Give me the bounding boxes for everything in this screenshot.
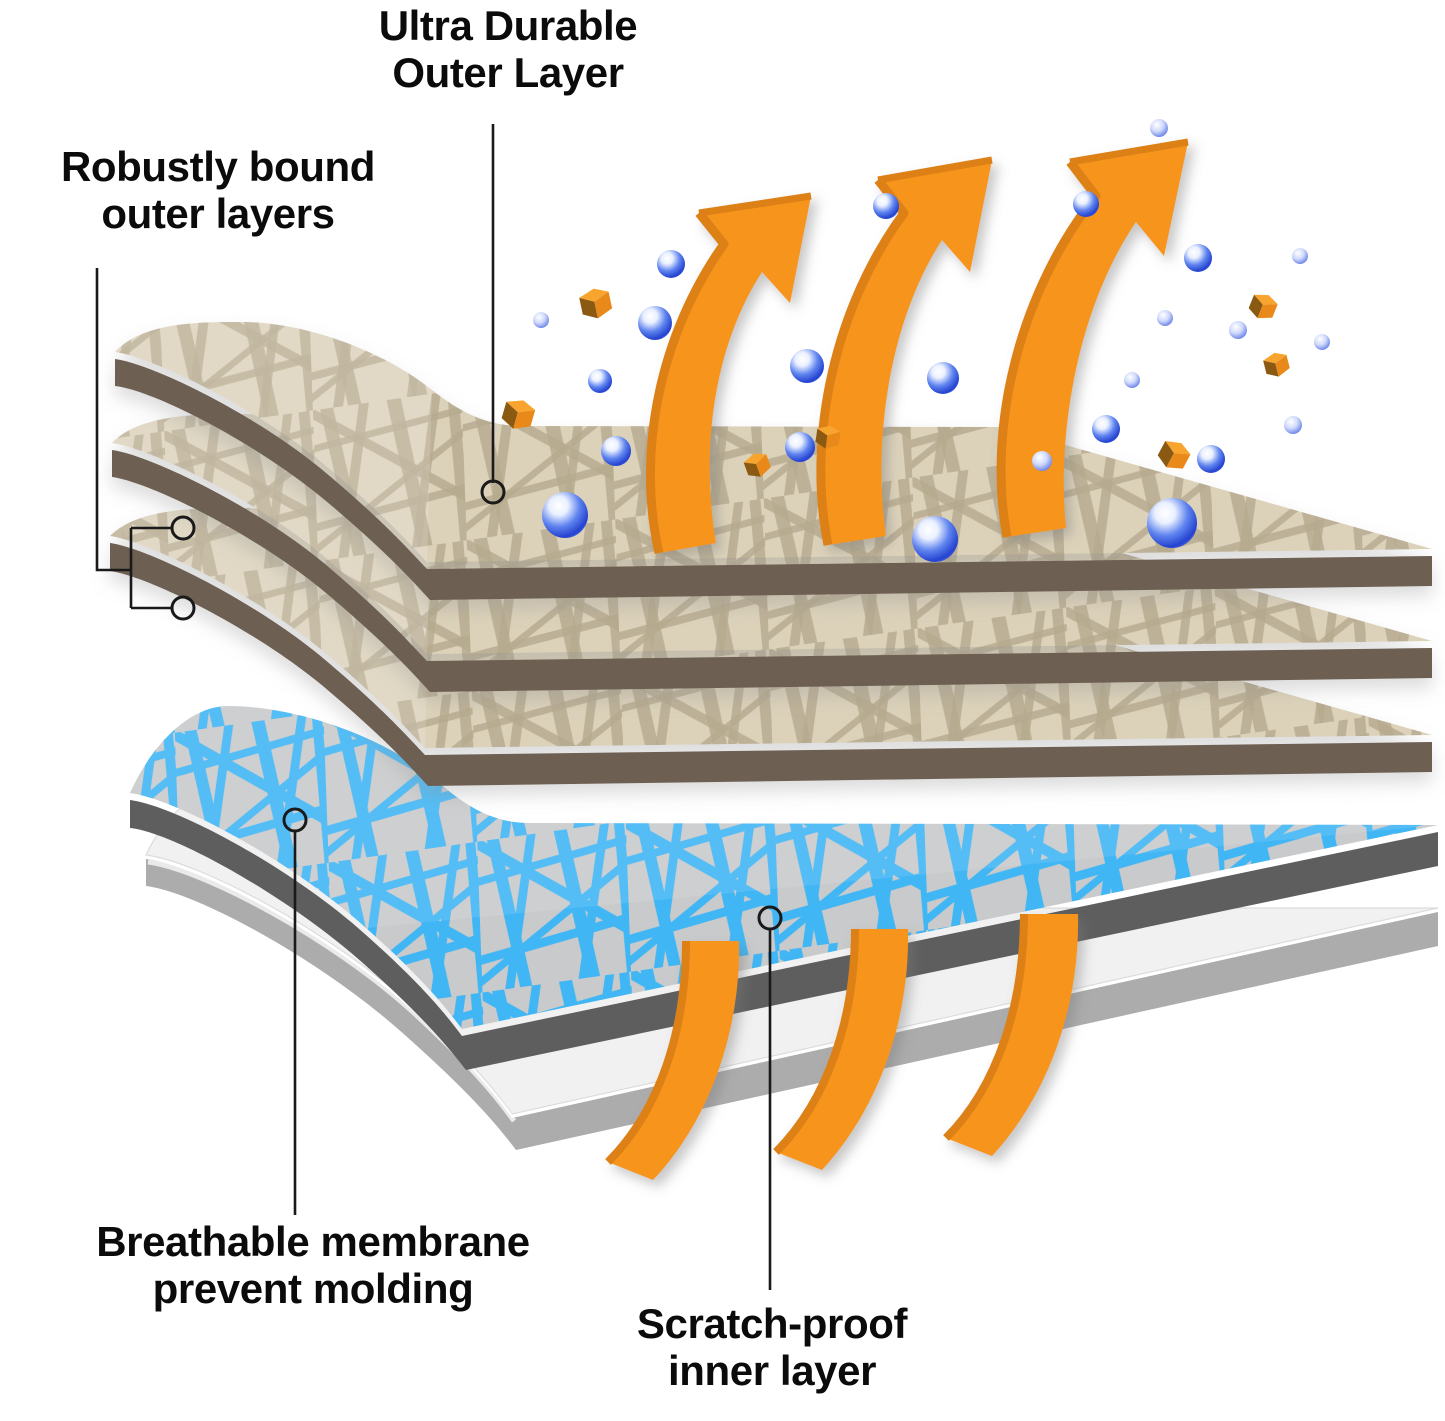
dirt-cube (578, 286, 614, 322)
moisture-bubble (912, 516, 958, 562)
moisture-bubble (588, 369, 612, 393)
label-scratch-proof-inner-layer: Scratch-proof inner layer (572, 1300, 972, 1394)
diagram-canvas: Ultra Durable Outer Layer Robustly bound… (0, 0, 1445, 1421)
moisture-bubble (1284, 416, 1302, 434)
moisture-bubble (1184, 244, 1212, 272)
moisture-bubble (1124, 372, 1140, 388)
moisture-bubble (542, 492, 588, 538)
moisture-bubble (1197, 445, 1225, 473)
moisture-bubble (1073, 191, 1099, 217)
label-robustly-bound-outer-layers: Robustly bound outer layers (2, 143, 434, 237)
moisture-bubble (1032, 451, 1052, 471)
dirt-cube (1155, 436, 1194, 475)
moisture-bubble (1157, 310, 1173, 326)
dirt-cube (1262, 350, 1291, 379)
moisture-bubble (790, 349, 824, 383)
moisture-bubble (1092, 415, 1120, 443)
moisture-bubble (873, 193, 899, 219)
label-ultra-durable-outer-layer: Ultra Durable Outer Layer (318, 2, 698, 96)
dirt-cube (1246, 290, 1279, 323)
label-breathable-membrane: Breathable membrane prevent molding (0, 1218, 626, 1312)
moisture-bubble (927, 362, 959, 394)
moisture-bubble (785, 432, 815, 462)
moisture-bubble (1147, 498, 1197, 548)
moisture-bubble (1292, 248, 1308, 264)
moisture-bubble (601, 436, 631, 466)
moisture-bubble (657, 250, 685, 278)
moisture-bubble (1229, 321, 1247, 339)
moisture-bubble (1150, 119, 1168, 137)
moisture-bubble (638, 306, 672, 340)
moisture-bubble (1314, 334, 1330, 350)
moisture-bubble (533, 312, 549, 328)
